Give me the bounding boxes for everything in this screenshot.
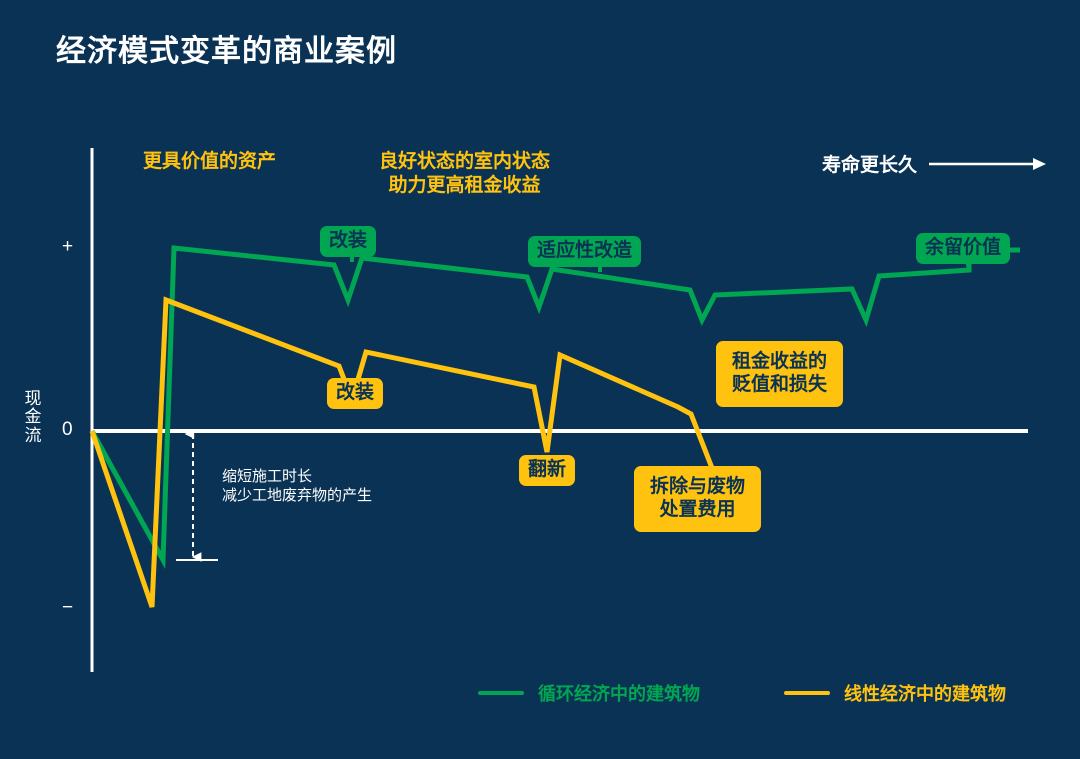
right-arrow-icon bbox=[929, 156, 1047, 172]
pill-green-residual-value[interactable]: 余留价值 bbox=[916, 233, 1010, 264]
y-tick-zero: 0 bbox=[62, 419, 73, 441]
chart-page: 经济模式变革的商业案例 + 0 − 现金流 更具价值的资产 良好状 bbox=[0, 0, 1080, 759]
y-tick-negative: − bbox=[62, 597, 73, 619]
legend-label-circular: 循环经济中的建筑物 bbox=[538, 680, 700, 706]
pill-yellow-demolition-waste[interactable]: 拆除与废物 处置费用 bbox=[634, 466, 761, 532]
legend-item-circular[interactable]: 循环经济中的建筑物 bbox=[478, 680, 700, 706]
longer-life-label: 寿命更长久 bbox=[822, 150, 917, 177]
legend-swatch-circular bbox=[478, 691, 524, 695]
annotation-shorter-construction: 缩短施工时长 减少工地废弃物的产生 bbox=[222, 468, 372, 506]
chart-plot-area bbox=[0, 0, 1080, 759]
y-tick-positive: + bbox=[62, 236, 73, 258]
series-line-circular bbox=[92, 248, 1020, 560]
pill-yellow-rent-depreciation[interactable]: 租金收益的 贬值和损失 bbox=[716, 341, 843, 407]
legend-label-linear: 线性经济中的建筑物 bbox=[844, 680, 1006, 706]
legend-item-linear[interactable]: 线性经济中的建筑物 bbox=[784, 680, 1006, 706]
annotation-longer-life: 寿命更长久 bbox=[822, 150, 1047, 177]
pill-yellow-refit[interactable]: 改装 bbox=[327, 378, 383, 409]
legend-swatch-linear bbox=[784, 691, 830, 695]
annotation-good-interior-condition: 良好状态的室内状态 助力更高租金收益 bbox=[379, 150, 550, 198]
y-axis-label: 现金流 bbox=[22, 390, 44, 445]
pill-green-adaptive-reuse[interactable]: 适应性改造 bbox=[528, 236, 641, 267]
pill-yellow-renovation[interactable]: 翻新 bbox=[519, 455, 575, 486]
annotation-more-valuable-asset: 更具价值的资产 bbox=[143, 150, 276, 174]
pill-green-refit[interactable]: 改装 bbox=[320, 226, 376, 257]
